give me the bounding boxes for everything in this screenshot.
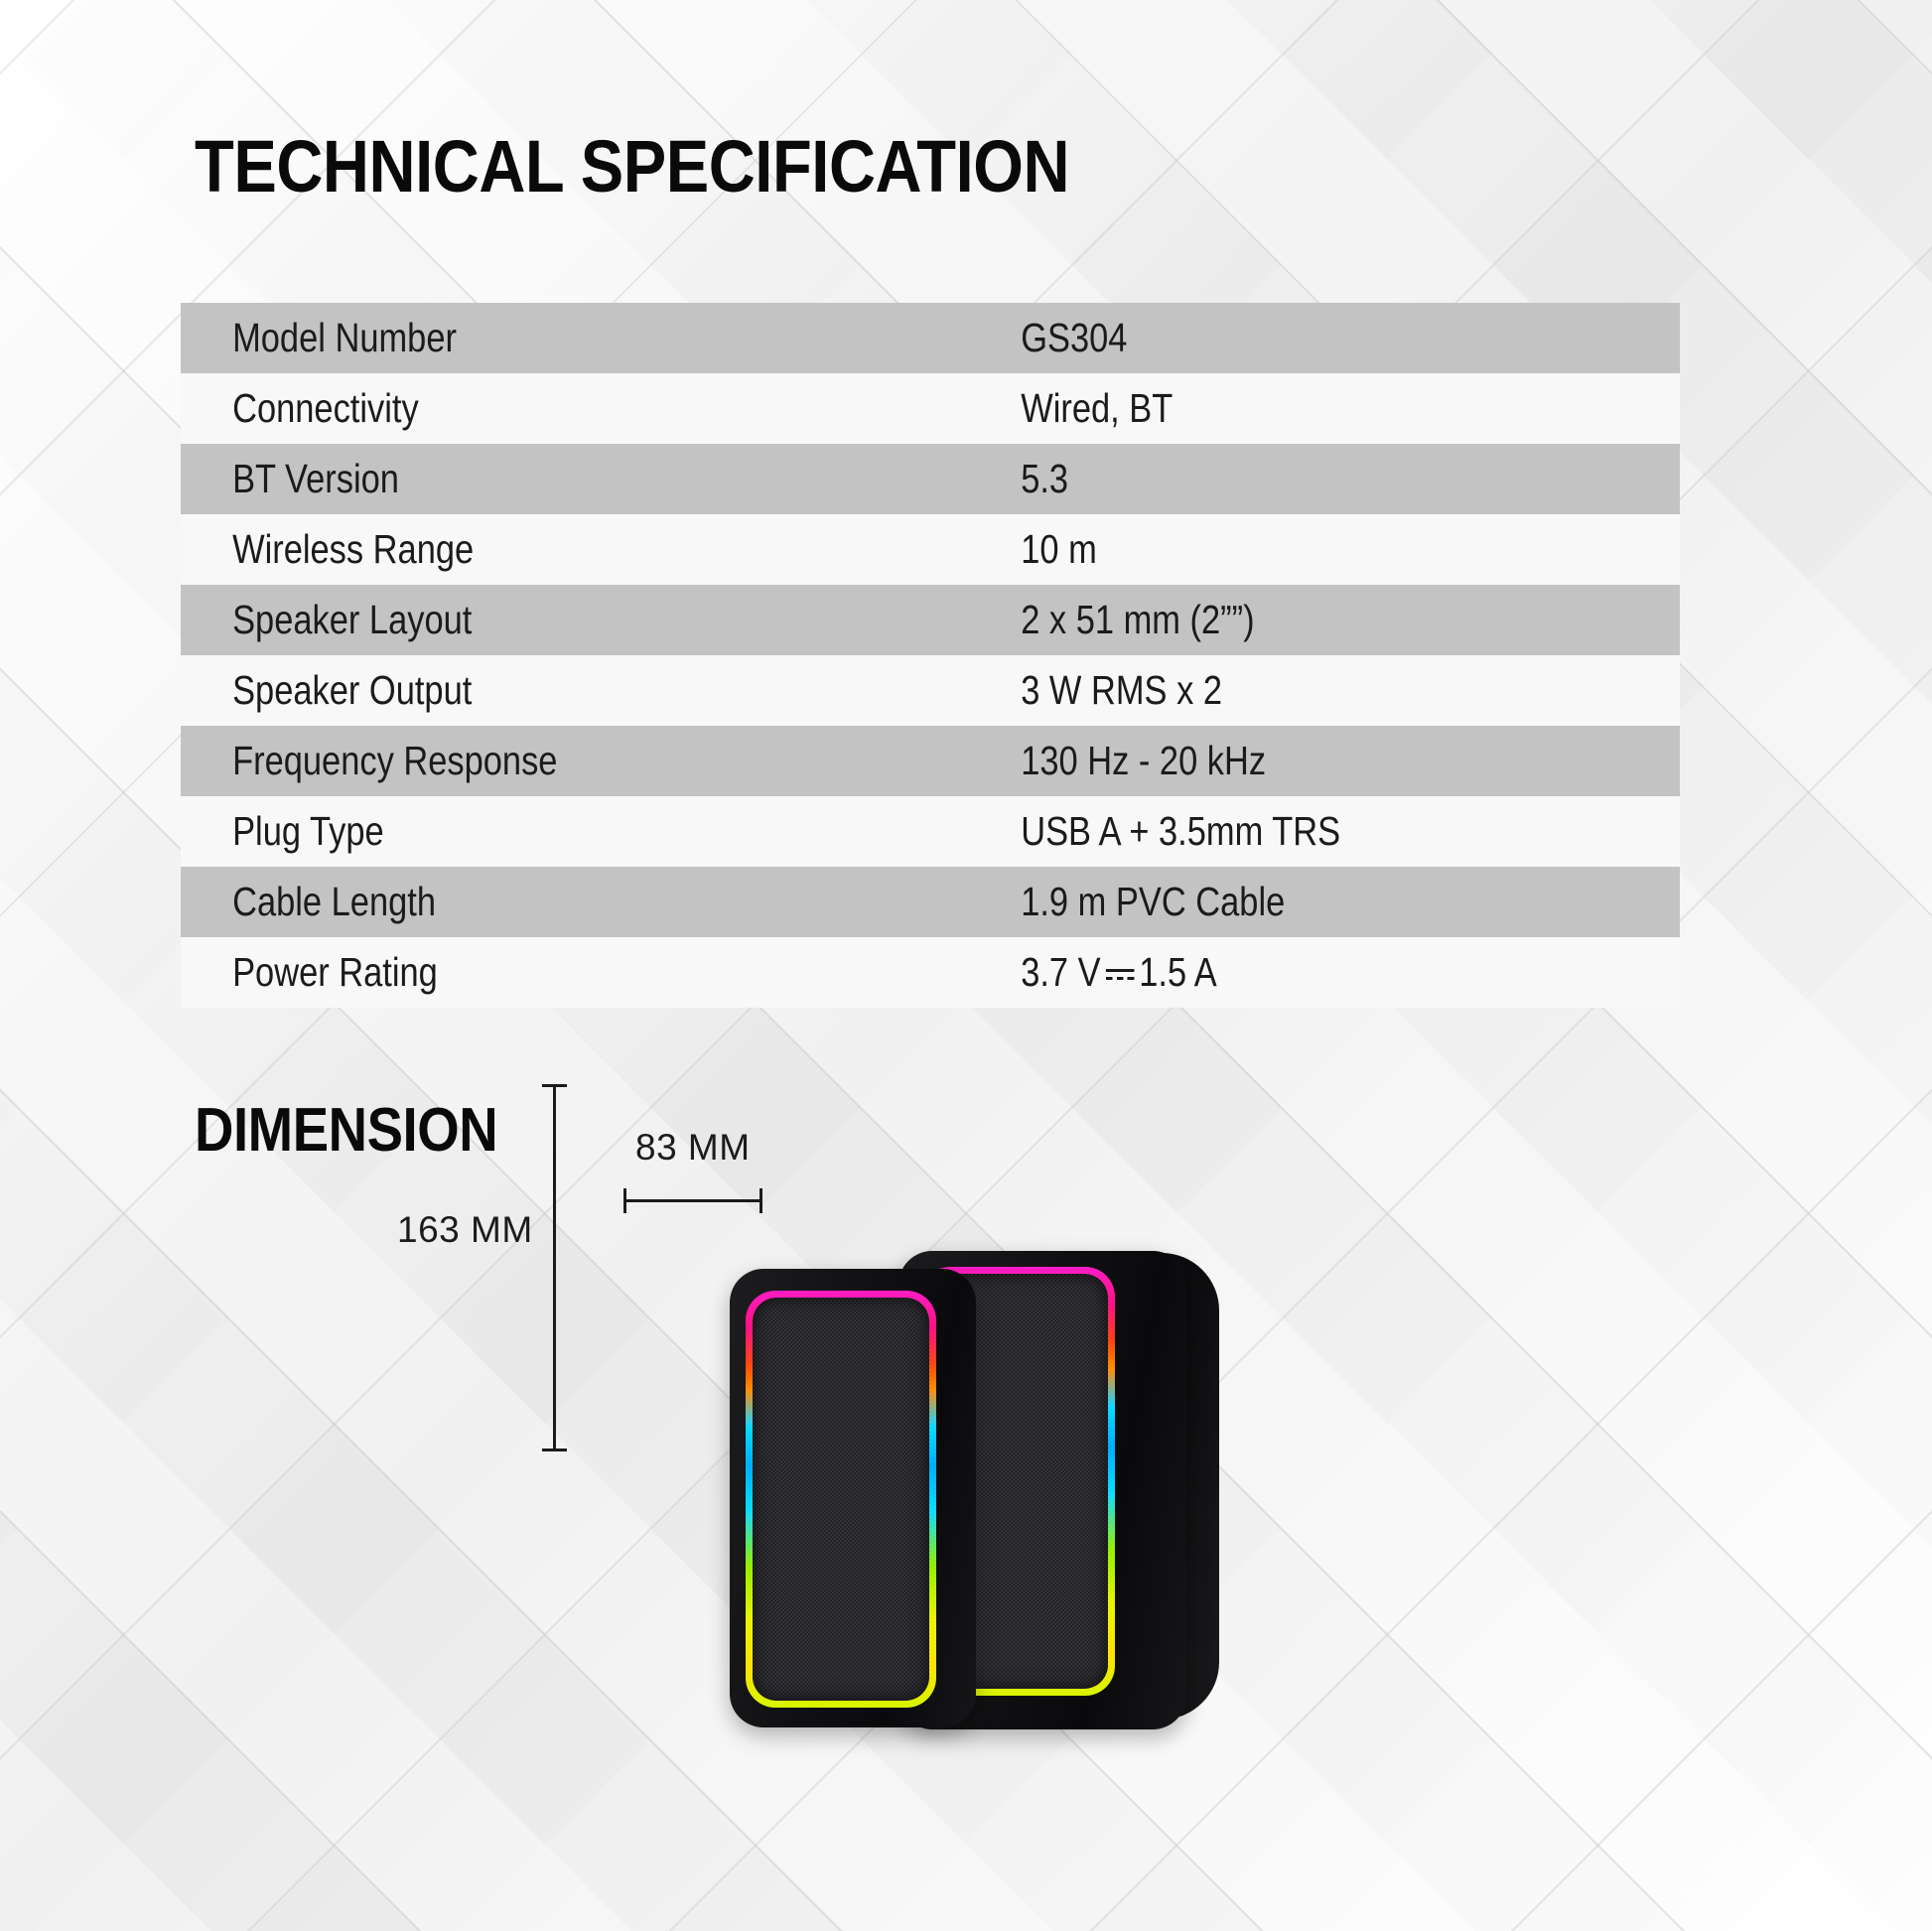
specification-table: Model NumberGS304ConnectivityWired, BTBT… xyxy=(181,303,1680,1008)
table-row: Frequency Response130 Hz - 20 kHz xyxy=(181,726,1680,796)
spec-value-voltage: 3.7 V xyxy=(1021,949,1100,995)
dc-power-icon xyxy=(1106,964,1135,986)
dimension-line-height xyxy=(553,1084,556,1451)
speaker-unit-left xyxy=(730,1269,976,1727)
spec-label: Speaker Output xyxy=(181,667,848,714)
table-row: ConnectivityWired, BT xyxy=(181,373,1680,444)
spec-label: Power Rating xyxy=(181,949,848,996)
table-row: Speaker Layout2 x 51 mm (2””) xyxy=(181,585,1680,655)
spec-label: Connectivity xyxy=(181,385,848,432)
spec-value: Wired, BT xyxy=(975,385,1567,432)
spec-label: Wireless Range xyxy=(181,526,848,573)
spec-value: 5.3 xyxy=(975,456,1567,502)
dimension-label-width-top: 83 MM xyxy=(635,1127,751,1169)
spec-value: 1.9 m PVC Cable xyxy=(975,879,1567,925)
product-image-speakers xyxy=(730,1251,1246,1747)
table-row: Power Rating3.7 V1.5 A xyxy=(181,937,1680,1008)
rgb-light-ring-left xyxy=(746,1291,936,1708)
spec-label: Cable Length xyxy=(181,879,848,925)
table-row: Model NumberGS304 xyxy=(181,303,1680,373)
spec-label: Plug Type xyxy=(181,808,848,855)
spec-label: Frequency Response xyxy=(181,738,848,784)
spec-value: 2 x 51 mm (2””) xyxy=(975,597,1567,643)
spec-value: USB A + 3.5mm TRS xyxy=(975,808,1567,855)
spec-value: 10 m xyxy=(975,526,1567,573)
page-title: TECHNICAL SPECIFICATION xyxy=(195,127,1069,207)
spec-value: 130 Hz - 20 kHz xyxy=(975,738,1567,784)
spec-label: Model Number xyxy=(181,315,848,361)
table-row: Plug TypeUSB A + 3.5mm TRS xyxy=(181,796,1680,867)
spec-value: GS304 xyxy=(975,315,1567,361)
dimension-diagram: 83 MM 163 MM 85 MM xyxy=(0,1142,1932,1916)
table-row: Cable Length1.9 m PVC Cable xyxy=(181,867,1680,937)
spec-sheet-page: TECHNICAL SPECIFICATION Model NumberGS30… xyxy=(0,0,1932,1931)
table-row: Speaker Output3 W RMS x 2 xyxy=(181,655,1680,726)
table-row: Wireless Range10 m xyxy=(181,514,1680,585)
dimension-label-height: 163 MM xyxy=(397,1209,533,1251)
spec-label: BT Version xyxy=(181,456,848,502)
spec-value: 3 W RMS x 2 xyxy=(975,667,1567,714)
spec-value-current: 1.5 A xyxy=(1139,949,1217,995)
spec-value: 3.7 V1.5 A xyxy=(975,949,1567,996)
table-row: BT Version5.3 xyxy=(181,444,1680,514)
dimension-line-width-top xyxy=(623,1199,762,1202)
spec-label: Speaker Layout xyxy=(181,597,848,643)
speaker-grille-left xyxy=(753,1298,929,1701)
